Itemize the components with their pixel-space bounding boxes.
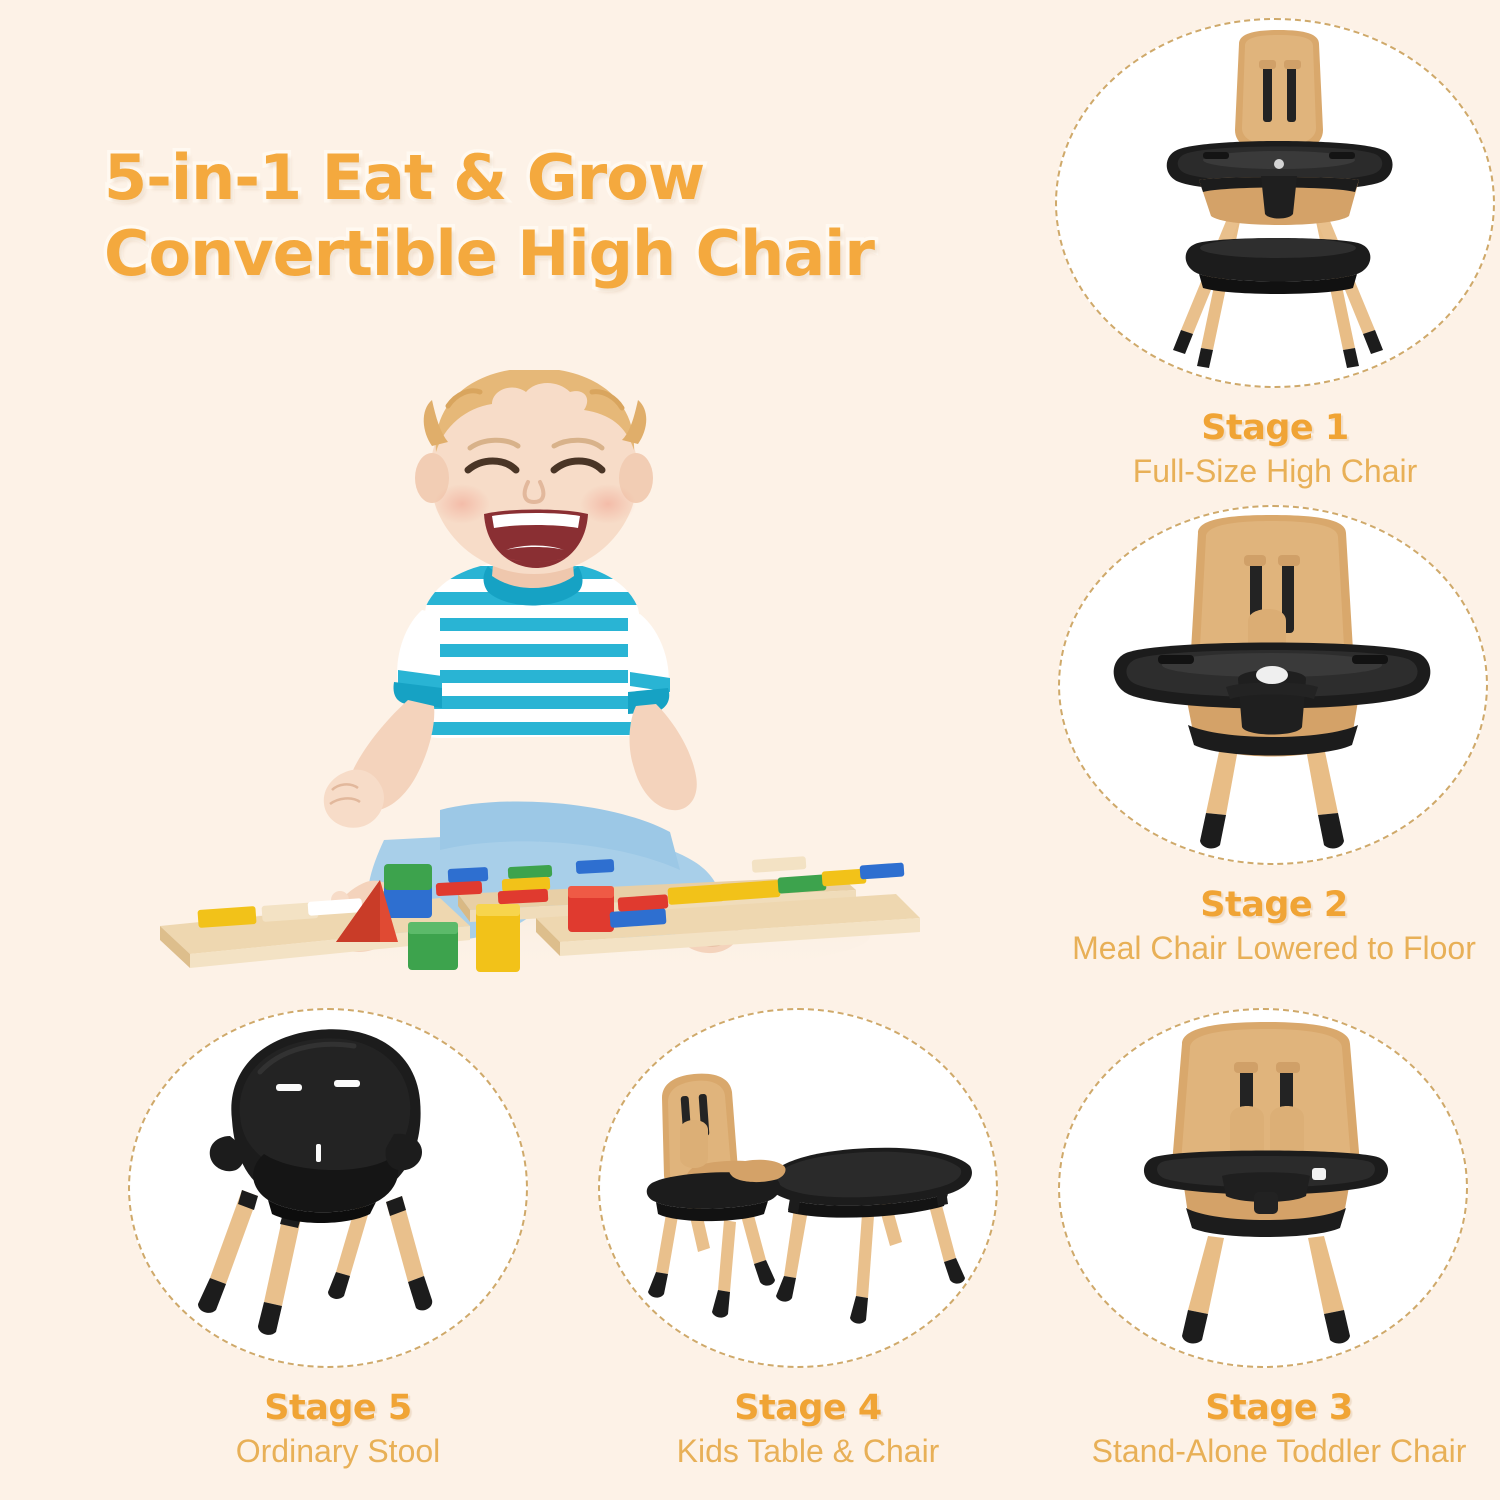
stage-5-caption: Stage 5 Ordinary Stool xyxy=(118,1386,558,1472)
hero-photo xyxy=(140,370,920,990)
stage-4-caption: Stage 4 Kids Table & Chair xyxy=(588,1386,1028,1472)
stage-2-description: Meal Chair Lowered to Floor xyxy=(998,927,1500,969)
stage-card-4: Stage 4 Kids Table & Chair xyxy=(588,1008,1028,1488)
stage-1-name: Stage 1 xyxy=(1055,406,1495,450)
toddler-chair-icon xyxy=(1116,1022,1416,1362)
kids-table-and-chair-icon xyxy=(618,1058,983,1338)
stage-card-2: Stage 2 Meal Chair Lowered to Floor xyxy=(1050,505,1500,995)
high-chair-full-size-icon xyxy=(1143,30,1413,378)
stage-card-1: Stage 1 Full-Size High Chair xyxy=(1055,18,1495,508)
stage-3-caption: Stage 3 Stand-Alone Toddler Chair xyxy=(1023,1386,1500,1472)
stage-4-description: Kids Table & Chair xyxy=(588,1430,1028,1472)
stage-3-name: Stage 3 xyxy=(1023,1386,1500,1430)
stage-1-description: Full-Size High Chair xyxy=(1055,450,1495,492)
stage-5-name: Stage 5 xyxy=(118,1386,558,1430)
product-infographic: 5-in-1 Eat & Grow Convertible High Chair xyxy=(0,0,1500,1500)
ordinary-stool-icon xyxy=(168,1024,488,1354)
title-line-1: 5-in-1 Eat & Grow xyxy=(104,140,964,216)
meal-chair-lowered-icon xyxy=(1102,515,1442,863)
stage-card-3: Stage 3 Stand-Alone Toddler Chair xyxy=(1058,1008,1500,1488)
page-title: 5-in-1 Eat & Grow Convertible High Chair xyxy=(104,140,964,292)
stage-1-caption: Stage 1 Full-Size High Chair xyxy=(1055,406,1495,492)
stage-card-5: Stage 5 Ordinary Stool xyxy=(118,1008,558,1488)
stage-2-name: Stage 2 xyxy=(998,883,1500,927)
stage-4-name: Stage 4 xyxy=(588,1386,1028,1430)
stage-3-description: Stand-Alone Toddler Chair xyxy=(1023,1430,1500,1472)
stage-2-caption: Stage 2 Meal Chair Lowered to Floor xyxy=(998,883,1500,969)
baby-illustration xyxy=(140,370,920,990)
title-line-2: Convertible High Chair xyxy=(104,216,964,292)
stage-5-description: Ordinary Stool xyxy=(118,1430,558,1472)
